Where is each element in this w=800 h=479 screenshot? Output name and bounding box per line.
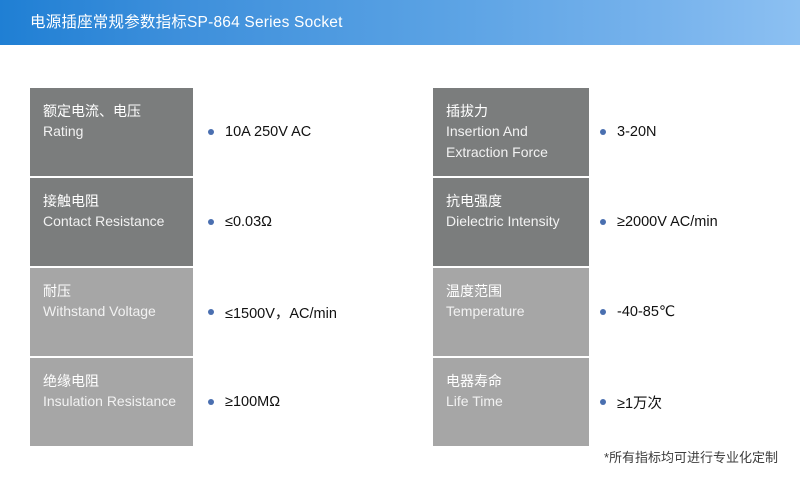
spec-label-en-line2: Extraction Force <box>446 142 589 163</box>
spec-value-cell-insertion-force: 3-20N <box>600 88 657 176</box>
spec-value: ≥2000V AC/min <box>617 214 718 230</box>
bullet-icon <box>208 399 214 405</box>
spec-label-cn: 绝缘电阻 <box>43 371 193 391</box>
bullet-icon <box>600 309 606 315</box>
spec-label-cell-withstand-voltage: 耐压 Withstand Voltage <box>30 268 193 356</box>
spec-label-cn: 接触电阻 <box>43 191 193 211</box>
spec-label-cell-rating: 额定电流、电压 Rating <box>30 88 193 176</box>
header-bar: 电源插座常规参数指标SP-864 Series Socket <box>0 0 800 45</box>
spec-label-en: Life Time <box>446 391 589 412</box>
spec-label-en: Insertion And <box>446 121 589 142</box>
bullet-icon <box>600 129 606 135</box>
bullet-icon <box>600 219 606 225</box>
spec-value-cell-withstand-voltage: ≤1500V，AC/min <box>208 268 337 356</box>
spec-label-cell-contact-resistance: 接触电阻 Contact Resistance <box>30 178 193 266</box>
spec-value: ≥100MΩ <box>225 394 280 410</box>
spec-table: 额定电流、电压 Rating 10A 250V AC 接触电阻 Contact … <box>0 45 800 479</box>
spec-label-cn: 插拔力 <box>446 101 589 121</box>
bullet-icon <box>208 219 214 225</box>
spec-row: 绝缘电阻 Insulation Resistance ≥100MΩ <box>30 358 400 446</box>
spec-value: ≥1万次 <box>617 392 662 413</box>
spec-label-en: Temperature <box>446 301 589 322</box>
spec-label-cn: 额定电流、电压 <box>43 101 193 121</box>
bullet-icon <box>600 399 606 405</box>
spec-value: ≤1500V，AC/min <box>225 302 337 323</box>
spec-label-cn: 耐压 <box>43 281 193 301</box>
spec-value-cell-rating: 10A 250V AC <box>208 88 311 176</box>
spec-value-cell-insulation-resistance: ≥100MΩ <box>208 358 280 446</box>
spec-value-cell-dielectric-intensity: ≥2000V AC/min <box>600 178 718 266</box>
spec-value: -40-85℃ <box>617 304 675 320</box>
spec-label-cn: 抗电强度 <box>446 191 589 211</box>
spec-value-cell-temperature: -40-85℃ <box>600 268 675 356</box>
spec-row: 插拔力 Insertion And Extraction Force 3-20N <box>433 88 800 176</box>
spec-row: 温度范围 Temperature -40-85℃ <box>433 268 800 356</box>
bullet-icon <box>208 129 214 135</box>
footnote: *所有指标均可进行专业化定制 <box>604 447 778 466</box>
spec-row: 耐压 Withstand Voltage ≤1500V，AC/min <box>30 268 400 356</box>
spec-value-cell-contact-resistance: ≤0.03Ω <box>208 178 272 266</box>
spec-label-cell-insertion-force: 插拔力 Insertion And Extraction Force <box>433 88 589 176</box>
spec-row: 电器寿命 Life Time ≥1万次 <box>433 358 800 446</box>
bullet-icon <box>208 309 214 315</box>
spec-label-cell-temperature: 温度范围 Temperature <box>433 268 589 356</box>
spec-value-cell-life-time: ≥1万次 <box>600 358 662 446</box>
spec-label-cell-insulation-resistance: 绝缘电阻 Insulation Resistance <box>30 358 193 446</box>
spec-row: 抗电强度 Dielectric Intensity ≥2000V AC/min <box>433 178 800 266</box>
spec-label-en: Contact Resistance <box>43 211 193 232</box>
spec-label-cell-life-time: 电器寿命 Life Time <box>433 358 589 446</box>
spec-label-cn: 温度范围 <box>446 281 589 301</box>
spec-label-en: Insulation Resistance <box>43 391 193 412</box>
spec-label-en: Dielectric Intensity <box>446 211 589 232</box>
spec-value: 3-20N <box>617 124 657 140</box>
spec-column-right: 插拔力 Insertion And Extraction Force 3-20N… <box>433 45 800 448</box>
spec-row: 接触电阻 Contact Resistance ≤0.03Ω <box>30 178 400 266</box>
spec-column-left: 额定电流、电压 Rating 10A 250V AC 接触电阻 Contact … <box>30 45 400 448</box>
spec-label-cn: 电器寿命 <box>446 371 589 391</box>
spec-value: 10A 250V AC <box>225 124 311 140</box>
spec-label-cell-dielectric-intensity: 抗电强度 Dielectric Intensity <box>433 178 589 266</box>
spec-row: 额定电流、电压 Rating 10A 250V AC <box>30 88 400 176</box>
page-title: 电源插座常规参数指标SP-864 Series Socket <box>30 0 343 45</box>
spec-label-en: Withstand Voltage <box>43 301 193 322</box>
spec-label-en: Rating <box>43 121 193 142</box>
spec-value: ≤0.03Ω <box>225 214 272 230</box>
